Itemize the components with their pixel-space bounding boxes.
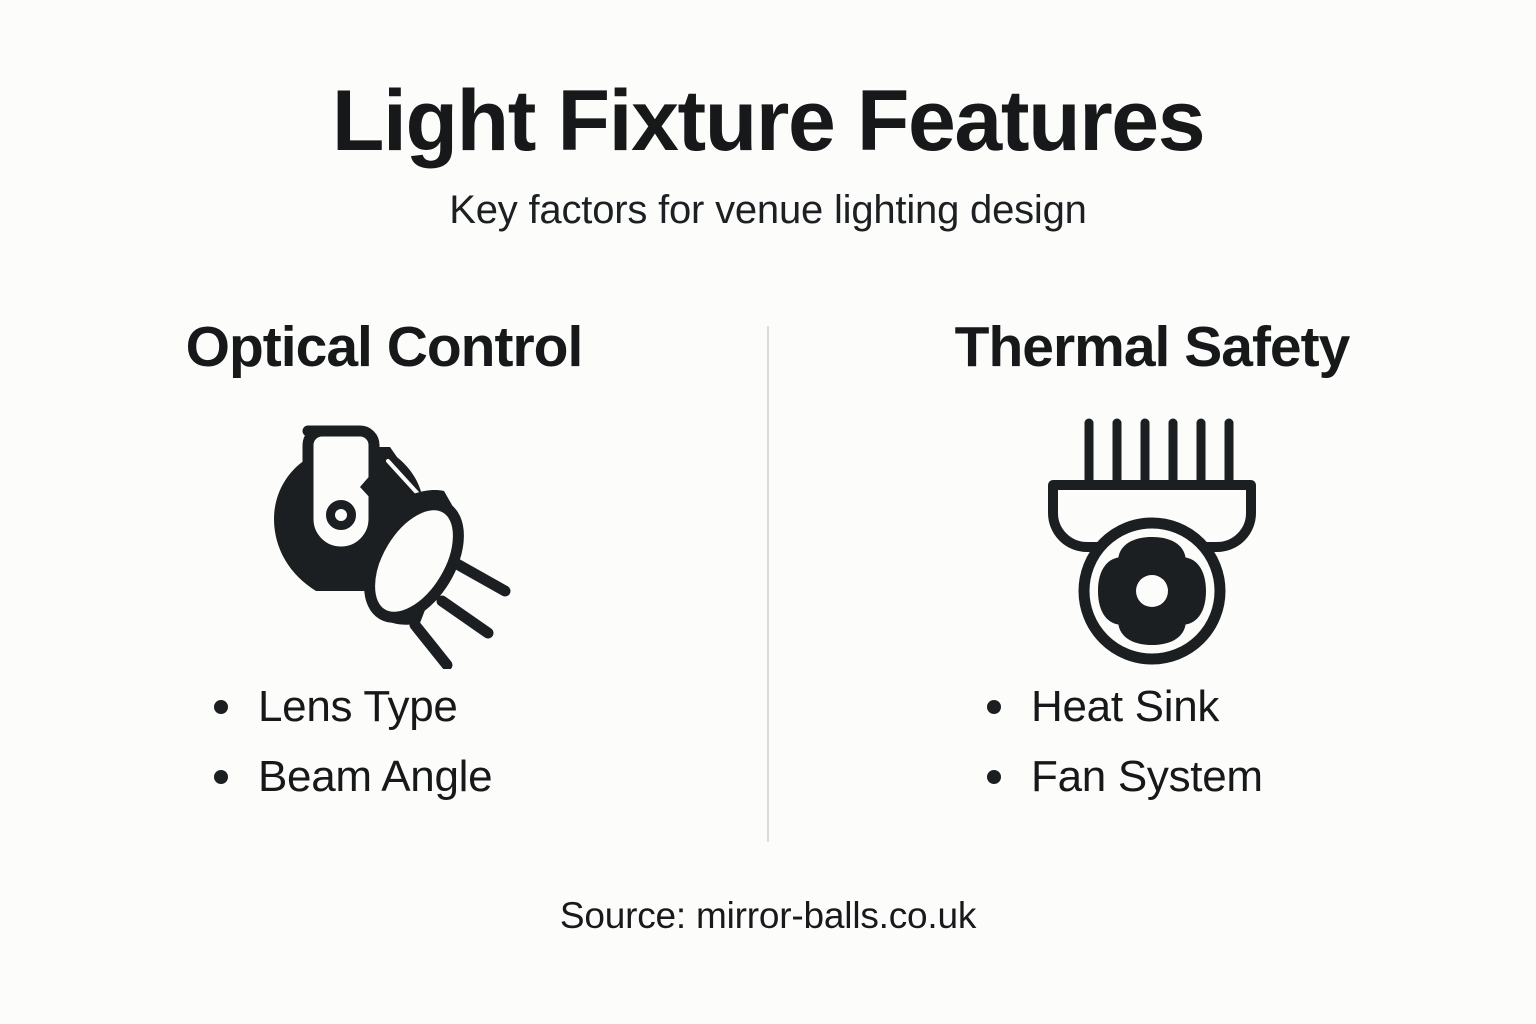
- list-item: Fan System: [987, 752, 1317, 802]
- list-item: Lens Type: [214, 682, 554, 732]
- bullet-list-right: Heat Sink Fan System: [768, 682, 1536, 822]
- column-thermal-safety: Thermal Safety: [768, 318, 1536, 846]
- icon-wrap-left: [244, 396, 524, 682]
- bullet-dot-icon: [987, 700, 1001, 714]
- heatsink-fan-icon: [1037, 409, 1267, 669]
- column-heading-left: Optical Control: [186, 318, 583, 396]
- list-item: Heat Sink: [987, 682, 1317, 732]
- bullet-label: Lens Type: [258, 682, 458, 732]
- list-item: Beam Angle: [214, 752, 554, 802]
- source-footer: Source: mirror-balls.co.uk: [0, 895, 1536, 937]
- infographic-canvas: Light Fixture Features Key factors for v…: [0, 0, 1536, 1024]
- header: Light Fixture Features Key factors for v…: [0, 0, 1536, 233]
- icon-wrap-right: [1037, 396, 1267, 682]
- bullet-dot-icon: [214, 700, 228, 714]
- bullet-label: Heat Sink: [1031, 682, 1219, 732]
- page-subtitle: Key factors for venue lighting design: [0, 188, 1536, 233]
- column-heading-right: Thermal Safety: [955, 318, 1350, 396]
- bullet-dot-icon: [214, 770, 228, 784]
- column-optical-control: Optical Control: [0, 318, 768, 846]
- bullet-label: Fan System: [1031, 752, 1263, 802]
- bullet-list-left: Lens Type Beam Angle: [0, 682, 768, 822]
- columns-container: Optical Control: [0, 318, 1536, 846]
- spotlight-icon: [244, 409, 524, 669]
- bullet-label: Beam Angle: [258, 752, 492, 802]
- bullet-dot-icon: [987, 770, 1001, 784]
- page-title: Light Fixture Features: [0, 78, 1536, 166]
